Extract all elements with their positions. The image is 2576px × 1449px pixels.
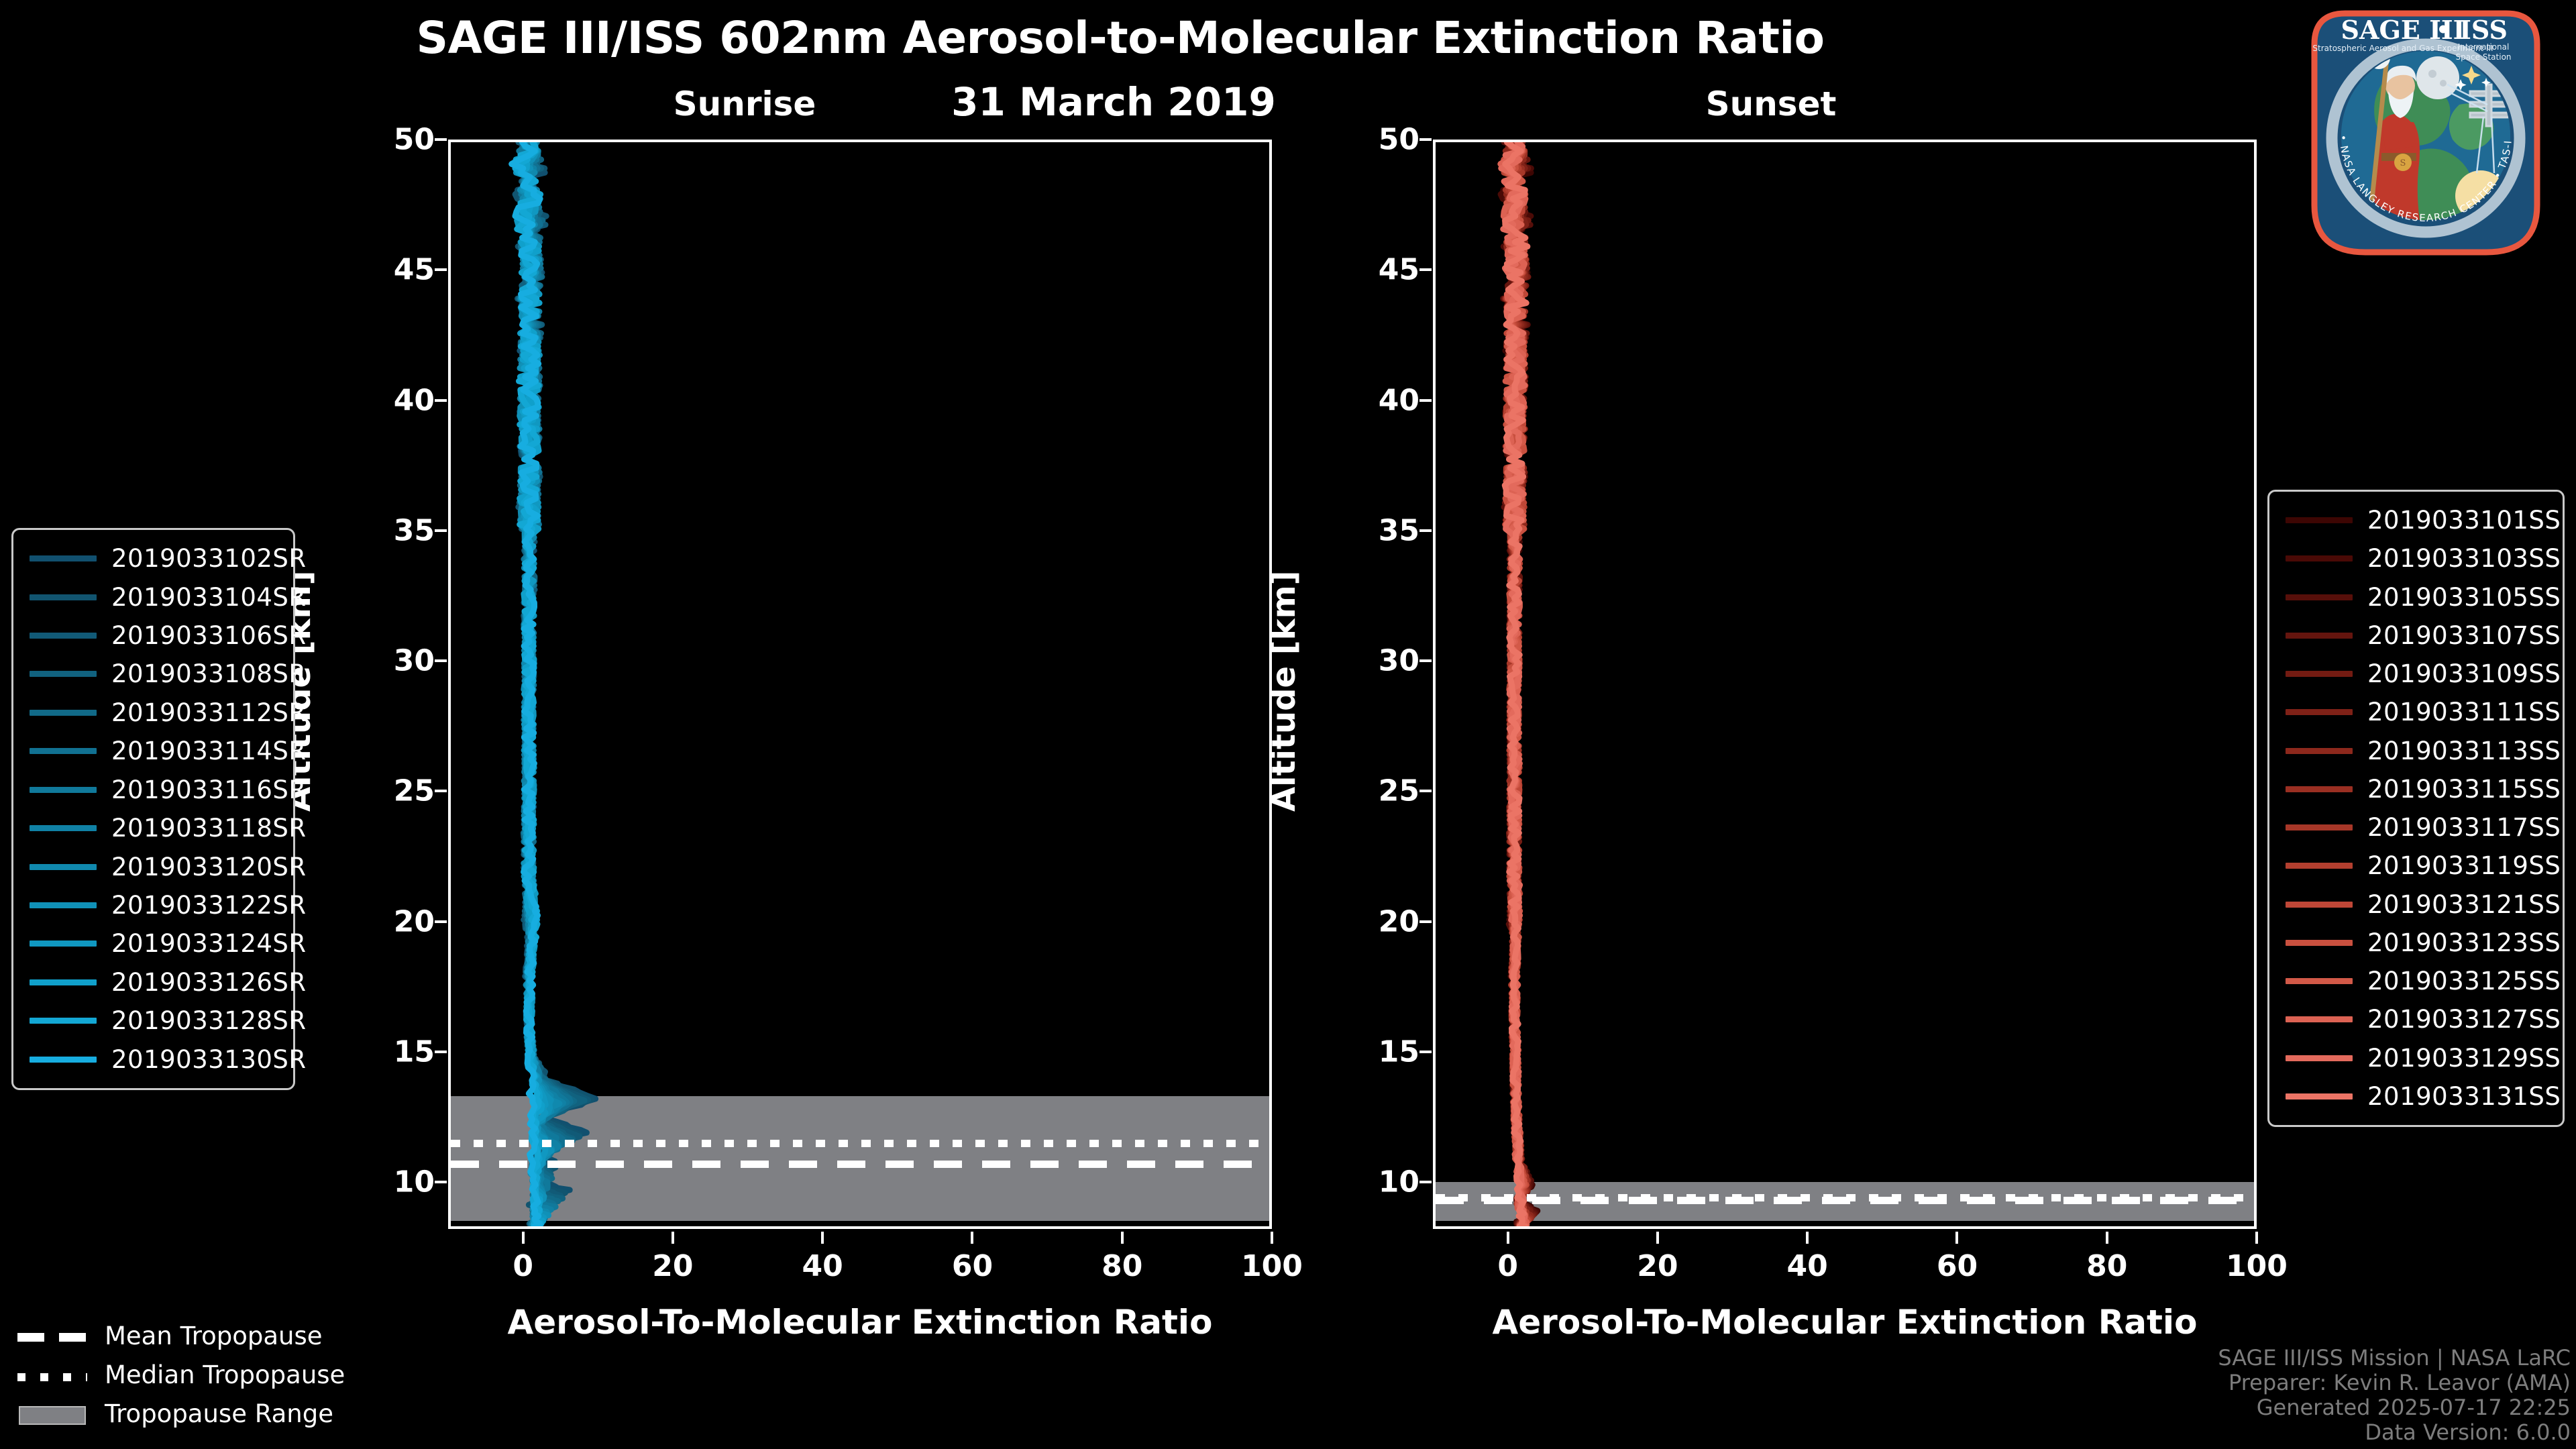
legend-sunrise[interactable]: 2019033102SR2019033104SR2019033106SR2019… — [11, 528, 295, 1090]
legend-color-swatch — [2286, 517, 2353, 523]
x-axis-tick-mark — [522, 1232, 525, 1244]
legend-item-label: 2019033127SS — [2367, 1005, 2561, 1034]
legend-sunset-item[interactable]: 2019033103SS — [2269, 539, 2563, 578]
x-axis-tick-mark — [1271, 1232, 1273, 1244]
legend-sunrise-item[interactable]: 2019033108SR — [13, 655, 293, 693]
legend-sunset-item[interactable]: 2019033111SS — [2269, 693, 2563, 731]
y-axis-tick-label: 20 — [347, 904, 435, 938]
y-axis-tick-label: 20 — [1332, 904, 1419, 938]
sunrise-plot-area — [448, 140, 1272, 1229]
legend-tropopause-label: Mean Tropopause — [105, 1322, 323, 1350]
y-axis-tick-label: 35 — [347, 513, 435, 547]
x-axis-tick-label: 40 — [1787, 1249, 1828, 1283]
legend-color-swatch — [30, 787, 97, 793]
dashed-line-icon — [15, 1328, 90, 1343]
legend-color-swatch — [2286, 594, 2353, 600]
legend-item-label: 2019033105SS — [2367, 583, 2561, 612]
legend-tropopause-item[interactable]: Median Tropopause — [9, 1355, 385, 1394]
legend-sunrise-item[interactable]: 2019033122SR — [13, 886, 293, 924]
dotted-line-icon — [15, 1367, 90, 1382]
x-axis-tick-mark — [971, 1232, 973, 1244]
y-axis-tick-mark — [1419, 1051, 1432, 1053]
series-layer — [451, 142, 1269, 1226]
legend-item-label: 2019033120SR — [111, 853, 307, 881]
legend-sunset[interactable]: 2019033101SS2019033103SS2019033105SS2019… — [2267, 490, 2565, 1127]
legend-item-label: 2019033126SR — [111, 968, 307, 997]
footer-credits: SAGE III/ISS Mission | NASA LaRC Prepare… — [2218, 1346, 2571, 1445]
sunset-plot-canvas — [1436, 142, 2254, 1226]
legend-tropopause-item[interactable]: Mean Tropopause — [9, 1316, 385, 1355]
x-axis-tick-mark — [2255, 1232, 2258, 1244]
legend-color-swatch — [2286, 748, 2353, 754]
legend-color-swatch — [2286, 824, 2353, 830]
legend-item-label: 2019033119SS — [2367, 851, 2561, 880]
x-axis-tick-label: 100 — [1241, 1249, 1303, 1283]
y-axis-tick-mark — [435, 1051, 447, 1053]
x-axis-tick-mark — [1507, 1232, 1509, 1244]
legend-sunrise-item[interactable]: 2019033130SR — [13, 1040, 293, 1078]
y-axis-tick-label: 50 — [347, 123, 435, 157]
legend-sunrise-item[interactable]: 2019033126SR — [13, 963, 293, 1002]
y-axis-tick-mark — [435, 529, 447, 532]
legend-item-label: 2019033123SS — [2367, 928, 2561, 957]
y-axis-tick-label: 25 — [347, 774, 435, 808]
legend-sunset-item[interactable]: 2019033107SS — [2269, 616, 2563, 655]
legend-item-label: 2019033107SS — [2367, 621, 2561, 650]
legend-item-label: 2019033131SS — [2367, 1082, 2561, 1111]
legend-color-swatch — [30, 710, 97, 716]
legend-item-label: 2019033128SR — [111, 1006, 307, 1035]
x-axis-tick-mark — [1656, 1232, 1659, 1244]
y-axis-tick-mark — [1419, 659, 1432, 662]
y-axis-tick-mark — [435, 399, 447, 402]
legend-color-swatch — [2286, 1016, 2353, 1022]
filled-band-icon — [15, 1406, 90, 1421]
y-axis-tick-mark — [1419, 268, 1432, 271]
legend-item-label: 2019033130SR — [111, 1045, 307, 1074]
legend-item-label: 2019033118SR — [111, 814, 307, 843]
y-axis-tick-mark — [1419, 920, 1432, 923]
y-axis-tick-label: 30 — [347, 644, 435, 678]
legend-item-label: 2019033124SR — [111, 929, 307, 958]
legend-color-swatch — [30, 671, 97, 677]
x-axis-tick-label: 20 — [652, 1249, 693, 1283]
series-layer — [1436, 142, 2254, 1226]
legend-item-label: 2019033104SR — [111, 583, 307, 612]
legend-item-label: 2019033109SS — [2367, 659, 2561, 688]
legend-sunrise-item[interactable]: 2019033104SR — [13, 578, 293, 616]
x-axis-tick-mark — [672, 1232, 674, 1244]
legend-item-label: 2019033115SS — [2367, 775, 2561, 804]
legend-color-swatch — [30, 979, 97, 985]
y-axis-tick-mark — [435, 138, 447, 141]
y-axis-tick-label: 15 — [1332, 1034, 1419, 1069]
y-axis-tick-label: 45 — [347, 253, 435, 287]
legend-sunset-item[interactable]: 2019033125SS — [2269, 962, 2563, 1000]
legend-color-swatch — [30, 594, 97, 600]
legend-color-swatch — [2286, 671, 2353, 677]
legend-item-label: 2019033101SS — [2367, 506, 2561, 535]
x-axis-tick-mark — [1806, 1232, 1809, 1244]
y-axis-tick-mark — [1419, 529, 1432, 532]
y-axis-tick-mark — [435, 659, 447, 662]
legend-item-label: 2019033114SR — [111, 737, 307, 765]
footer-line-generated: Generated 2025-07-17 22:25 — [2218, 1395, 2571, 1420]
legend-sunrise-item[interactable]: 2019033106SR — [13, 616, 293, 655]
y-axis-tick-label: 25 — [1332, 774, 1419, 808]
x-axis-tick-label: 40 — [802, 1249, 843, 1283]
legend-color-swatch — [2286, 1055, 2353, 1061]
sunrise-panel-title: Sunrise — [604, 85, 885, 123]
legend-sunrise-item[interactable]: 2019033102SR — [13, 539, 293, 578]
logo-subtitle-right-2: Space Station — [2455, 52, 2511, 62]
legend-item-label: 2019033125SS — [2367, 967, 2561, 996]
legend-item-label: 2019033106SR — [111, 621, 307, 650]
legend-sunset-item[interactable]: 2019033101SS — [2269, 501, 2563, 539]
sunset-plot-area — [1433, 140, 2257, 1229]
legend-sunset-item[interactable]: 2019033123SS — [2269, 924, 2563, 962]
legend-sunrise-item[interactable]: 2019033120SR — [13, 847, 293, 885]
legend-color-swatch — [30, 825, 97, 831]
logo-title-iss: ISS — [2459, 15, 2508, 45]
y-axis-tick-label: 10 — [1332, 1165, 1419, 1199]
x-axis-tick-label: 20 — [1637, 1249, 1678, 1283]
legend-color-swatch — [2286, 863, 2353, 869]
y-axis-tick-label: 30 — [1332, 644, 1419, 678]
y-axis-tick-mark — [435, 268, 447, 271]
legend-item-label: 2019033116SR — [111, 775, 307, 804]
legend-sunset-item[interactable]: 2019033105SS — [2269, 578, 2563, 616]
legend-sunset-item[interactable]: 2019033129SS — [2269, 1039, 2563, 1077]
x-axis-tick-mark — [2106, 1232, 2108, 1244]
footer-line-preparer: Preparer: Kevin R. Leavor (AMA) — [2218, 1371, 2571, 1395]
legend-sunset-item[interactable]: 2019033119SS — [2269, 847, 2563, 885]
x-axis-tick-label: 60 — [952, 1249, 993, 1283]
x-axis-tick-mark — [1955, 1232, 1958, 1244]
mean-tropopause-line — [1436, 1197, 2254, 1204]
y-axis-tick-mark — [435, 920, 447, 923]
legend-tropopause[interactable]: Mean TropopauseMedian TropopauseTropopau… — [9, 1316, 385, 1434]
legend-item-label: 2019033117SS — [2367, 813, 2561, 842]
legend-color-swatch — [2286, 633, 2353, 639]
legend-color-swatch — [2286, 786, 2353, 792]
legend-color-swatch — [2286, 940, 2353, 946]
legend-sunset-item[interactable]: 2019033109SS — [2269, 655, 2563, 693]
x-axis-tick-label: 60 — [1937, 1249, 1978, 1283]
y-axis-tick-mark — [1419, 399, 1432, 402]
legend-color-swatch — [2286, 978, 2353, 984]
legend-color-swatch — [30, 864, 97, 870]
date-title: 31 March 2019 — [859, 79, 1368, 125]
x-axis-tick-label: 0 — [513, 1249, 533, 1283]
y-axis-tick-mark — [1419, 138, 1432, 141]
legend-item-label: 2019033103SS — [2367, 544, 2561, 573]
page-title: SAGE III/ISS 602nm Aerosol-to-Molecular … — [0, 12, 2241, 64]
legend-tropopause-label: Tropopause Range — [105, 1399, 333, 1428]
legend-tropopause-item[interactable]: Tropopause Range — [9, 1394, 385, 1433]
logo-subtitle-right-1: International — [2458, 42, 2510, 52]
y-axis-tick-mark — [435, 1181, 447, 1183]
legend-color-swatch — [2286, 1093, 2353, 1099]
legend-item-label: 2019033122SR — [111, 891, 307, 920]
legend-sunset-item[interactable]: 2019033121SS — [2269, 885, 2563, 924]
x-axis-tick-label: 80 — [1102, 1249, 1142, 1283]
legend-sunset-item[interactable]: 2019033131SS — [2269, 1077, 2563, 1116]
logo-title-dot: • — [2436, 17, 2451, 44]
legend-sunrise-item[interactable]: 2019033118SR — [13, 809, 293, 847]
legend-sunset-item[interactable]: 2019033117SS — [2269, 808, 2563, 847]
x-axis-tick-mark — [821, 1232, 824, 1244]
footer-line-mission: SAGE III/ISS Mission | NASA LaRC — [2218, 1346, 2571, 1371]
y-axis-tick-label: 35 — [1332, 513, 1419, 547]
y-axis-label: Altitude [km] — [1265, 570, 1303, 812]
legend-item-label: 2019033113SS — [2367, 737, 2561, 765]
legend-color-swatch — [2286, 709, 2353, 715]
median-tropopause-line — [451, 1140, 1269, 1147]
sunrise-plot-canvas — [451, 142, 1269, 1226]
legend-item-label: 2019033108SR — [111, 659, 307, 688]
legend-color-swatch — [30, 1018, 97, 1024]
legend-color-swatch — [30, 633, 97, 639]
legend-sunrise-item[interactable]: 2019033112SR — [13, 694, 293, 732]
legend-tropopause-label: Median Tropopause — [105, 1360, 345, 1389]
y-axis-tick-mark — [1419, 1181, 1432, 1183]
legend-color-swatch — [30, 1057, 97, 1063]
y-axis-tick-label: 45 — [1332, 253, 1419, 287]
x-axis-tick-label: 100 — [2226, 1249, 2288, 1283]
legend-item-label: 2019033102SR — [111, 544, 307, 573]
legend-sunset-item[interactable]: 2019033115SS — [2269, 770, 2563, 808]
footer-line-dataversion: Data Version: 6.0.0 — [2218, 1420, 2571, 1445]
x-axis-tick-label: 0 — [1497, 1249, 1518, 1283]
legend-sunset-item[interactable]: 2019033113SS — [2269, 732, 2563, 770]
legend-color-swatch — [2286, 902, 2353, 908]
x-axis-tick-mark — [1121, 1232, 1124, 1244]
sunset-panel-title: Sunset — [1630, 85, 1912, 123]
legend-color-swatch — [30, 902, 97, 908]
svg-text:S: S — [2400, 158, 2406, 168]
legend-color-swatch — [30, 555, 97, 561]
legend-item-label: 2019033121SS — [2367, 890, 2561, 919]
x-axis-tick-label: 80 — [2086, 1249, 2127, 1283]
x-axis-label: Aerosol-To-Molecular Extinction Ratio — [1433, 1303, 2257, 1342]
legend-sunset-item[interactable]: 2019033127SS — [2269, 1000, 2563, 1038]
mean-tropopause-line — [451, 1161, 1269, 1168]
y-axis-tick-label: 40 — [1332, 383, 1419, 417]
legend-color-swatch — [30, 941, 97, 947]
sage-iii-iss-mission-patch-logo: S BALL • NASA LANGLEY RESEARCH CENTER • … — [2301, 4, 2551, 260]
legend-item-label: 2019033112SR — [111, 698, 307, 727]
legend-sunrise-item[interactable]: 2019033124SR — [13, 924, 293, 963]
y-axis-tick-mark — [1419, 790, 1432, 792]
legend-sunrise-item[interactable]: 2019033114SR — [13, 732, 293, 770]
legend-color-swatch — [30, 748, 97, 754]
legend-sunrise-item[interactable]: 2019033128SR — [13, 1002, 293, 1040]
y-axis-tick-mark — [435, 790, 447, 792]
y-axis-tick-label: 50 — [1332, 123, 1419, 157]
legend-item-label: 2019033111SS — [2367, 698, 2561, 727]
legend-item-label: 2019033129SS — [2367, 1044, 2561, 1073]
y-axis-tick-label: 40 — [347, 383, 435, 417]
legend-color-swatch — [2286, 555, 2353, 561]
y-axis-tick-label: 10 — [347, 1165, 435, 1199]
x-axis-label: Aerosol-To-Molecular Extinction Ratio — [448, 1303, 1272, 1342]
legend-sunrise-item[interactable]: 2019033116SR — [13, 771, 293, 809]
y-axis-tick-label: 15 — [347, 1034, 435, 1069]
